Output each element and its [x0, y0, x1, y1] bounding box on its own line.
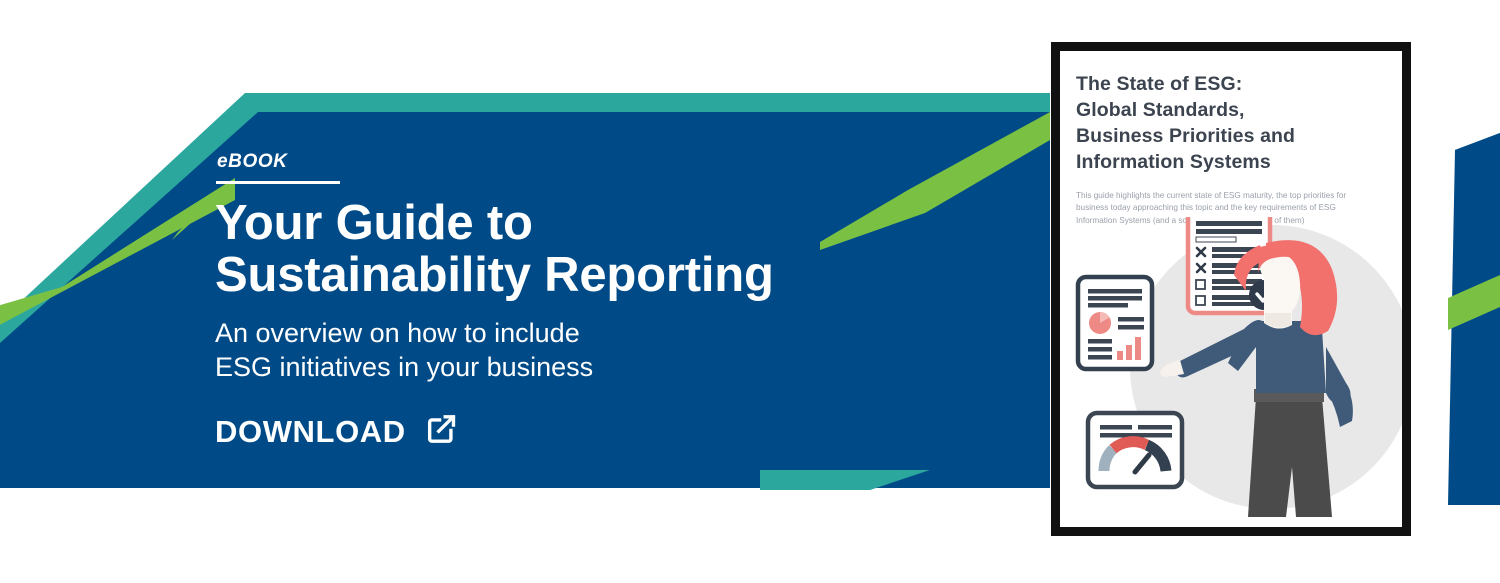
ebook-cover-image: The State of ESG: Global Standards, Busi… — [1051, 42, 1411, 536]
subtitle: An overview on how to include ESG initia… — [215, 316, 855, 385]
ebook-cover-page: The State of ESG: Global Standards, Busi… — [1060, 51, 1402, 527]
download-button[interactable]: DOWNLOAD — [215, 412, 458, 451]
eyebrow-divider — [216, 181, 340, 184]
banner-copy: eBOOK Your Guide to Sustainability Repor… — [215, 152, 855, 451]
download-button-label: DOWNLOAD — [215, 416, 406, 447]
ebook-illustration — [1060, 217, 1402, 527]
eyebrow-label: eBOOK — [217, 152, 855, 171]
ebook-promo-banner: eBOOK Your Guide to Sustainability Repor… — [0, 0, 1500, 583]
external-link-icon — [424, 412, 458, 451]
ebook-title: The State of ESG: Global Standards, Busi… — [1076, 72, 1386, 176]
gauge-meter-icon — [1088, 413, 1182, 487]
report-chart-document-icon — [1078, 277, 1152, 369]
page-title: Your Guide to Sustainability Reporting — [215, 198, 855, 302]
